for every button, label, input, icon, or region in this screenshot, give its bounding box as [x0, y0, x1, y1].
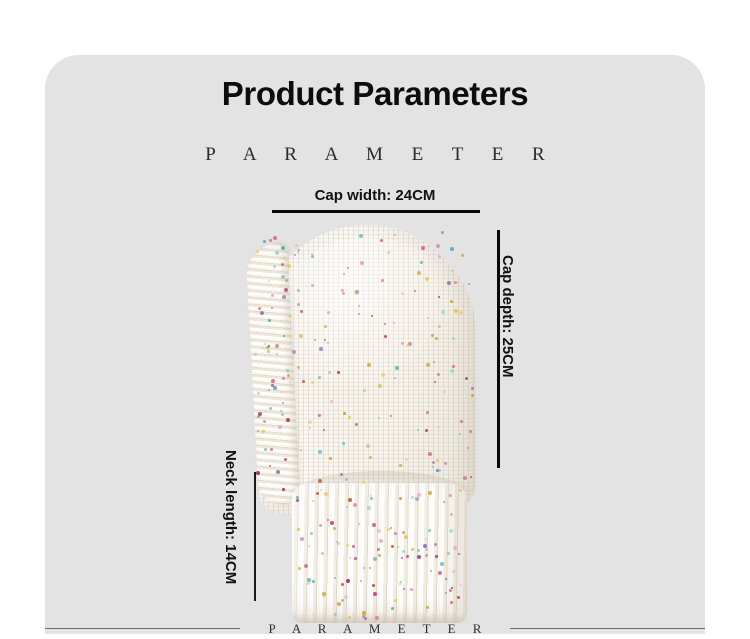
measurement-label-cap-depth: Cap depth: 25CM: [500, 255, 515, 378]
measurement-label-neck-length: Neck length: 14CM: [223, 450, 238, 584]
neck-rib-tube: [292, 483, 467, 623]
footer-rule-left: [45, 628, 240, 629]
page-subtitle: P A R A M E T E R: [45, 145, 705, 164]
knit-fabric-base: [240, 225, 490, 615]
measurement-label-cap-width: Cap width: 24CM: [45, 188, 705, 203]
page-title: Product Parameters: [45, 77, 705, 110]
measurement-rule-cap-depth: [497, 230, 500, 468]
page-root: Product Parameters P A R A M E T E R Cap…: [0, 0, 750, 639]
footer-label: P A R A M E T E R: [262, 622, 489, 635]
footer: P A R A M E T E R: [45, 618, 705, 639]
footer-rule-right: [510, 628, 705, 629]
product-parameters-card: Product Parameters P A R A M E T E R Cap…: [45, 55, 705, 634]
product-image-balaclava: [240, 225, 490, 615]
measurement-rule-cap-width: [272, 210, 480, 213]
